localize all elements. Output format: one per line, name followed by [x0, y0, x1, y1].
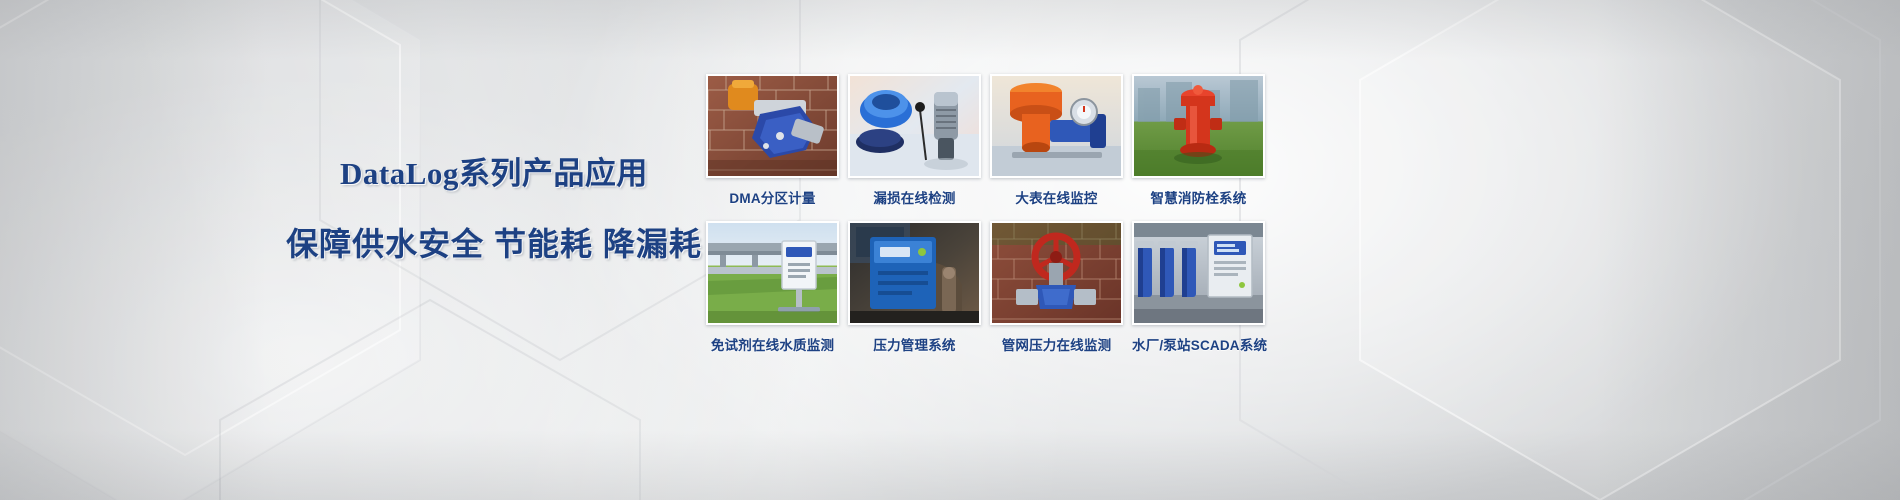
product-banner: DataLog系列产品应用 保障供水安全 节能耗 降漏耗: [0, 0, 1900, 500]
product-row-2: 免试剂在线水质监测: [706, 221, 1280, 354]
product-card-water-quality[interactable]: 免试剂在线水质监测: [706, 221, 839, 354]
water-quality-station-icon: [708, 223, 837, 323]
product-row-1: DMA分区计量: [706, 74, 1280, 207]
product-caption: DMA分区计量: [706, 187, 839, 207]
pressure-control-cabinet-icon: [850, 223, 979, 323]
product-card-dma-metering[interactable]: DMA分区计量: [706, 74, 839, 207]
product-caption: 压力管理系统: [848, 334, 981, 354]
product-thumbnail[interactable]: [990, 221, 1123, 325]
product-thumbnail[interactable]: [706, 221, 839, 325]
product-caption: 智慧消防栓系统: [1132, 187, 1265, 207]
product-card-large-meter[interactable]: 大表在线监控: [990, 74, 1123, 207]
product-caption: 大表在线监控: [990, 187, 1123, 207]
leak-logger-sensor-icon: [850, 76, 979, 176]
product-thumbnail[interactable]: [990, 74, 1123, 178]
headline-block: DataLog系列产品应用 保障供水安全 节能耗 降漏耗: [284, 148, 704, 265]
product-caption: 管网压力在线监测: [990, 334, 1123, 354]
scada-pump-station-icon: [1134, 223, 1263, 323]
product-caption: 免试剂在线水质监测: [706, 334, 839, 354]
product-caption: 漏损在线检测: [848, 187, 981, 207]
product-thumbnail[interactable]: [848, 74, 981, 178]
product-card-pressure-management[interactable]: 压力管理系统: [848, 221, 981, 354]
product-thumbnail-grid: DMA分区计量: [706, 74, 1280, 354]
headline-line-1: DataLog系列产品应用: [284, 148, 704, 193]
product-card-smart-hydrant[interactable]: 智慧消防栓系统: [1132, 74, 1265, 207]
red-fire-hydrant-icon: [1134, 76, 1263, 176]
product-thumbnail[interactable]: [848, 221, 981, 325]
product-card-pipe-pressure[interactable]: 管网压力在线监测: [990, 221, 1123, 354]
product-thumbnail[interactable]: [1132, 221, 1265, 325]
headline-line-2: 保障供水安全 节能耗 降漏耗: [284, 219, 704, 265]
product-card-leak-detection[interactable]: 漏损在线检测: [848, 74, 981, 207]
orange-large-meter-icon: [992, 76, 1121, 176]
product-thumbnail[interactable]: [1132, 74, 1265, 178]
product-thumbnail[interactable]: [706, 74, 839, 178]
product-caption: 水厂/泵站SCADA系统: [1132, 334, 1265, 354]
product-card-scada[interactable]: 水厂/泵站SCADA系统: [1132, 221, 1265, 354]
red-handwheel-valve-icon: [992, 223, 1121, 323]
blue-valve-on-brick-icon: [708, 76, 837, 176]
